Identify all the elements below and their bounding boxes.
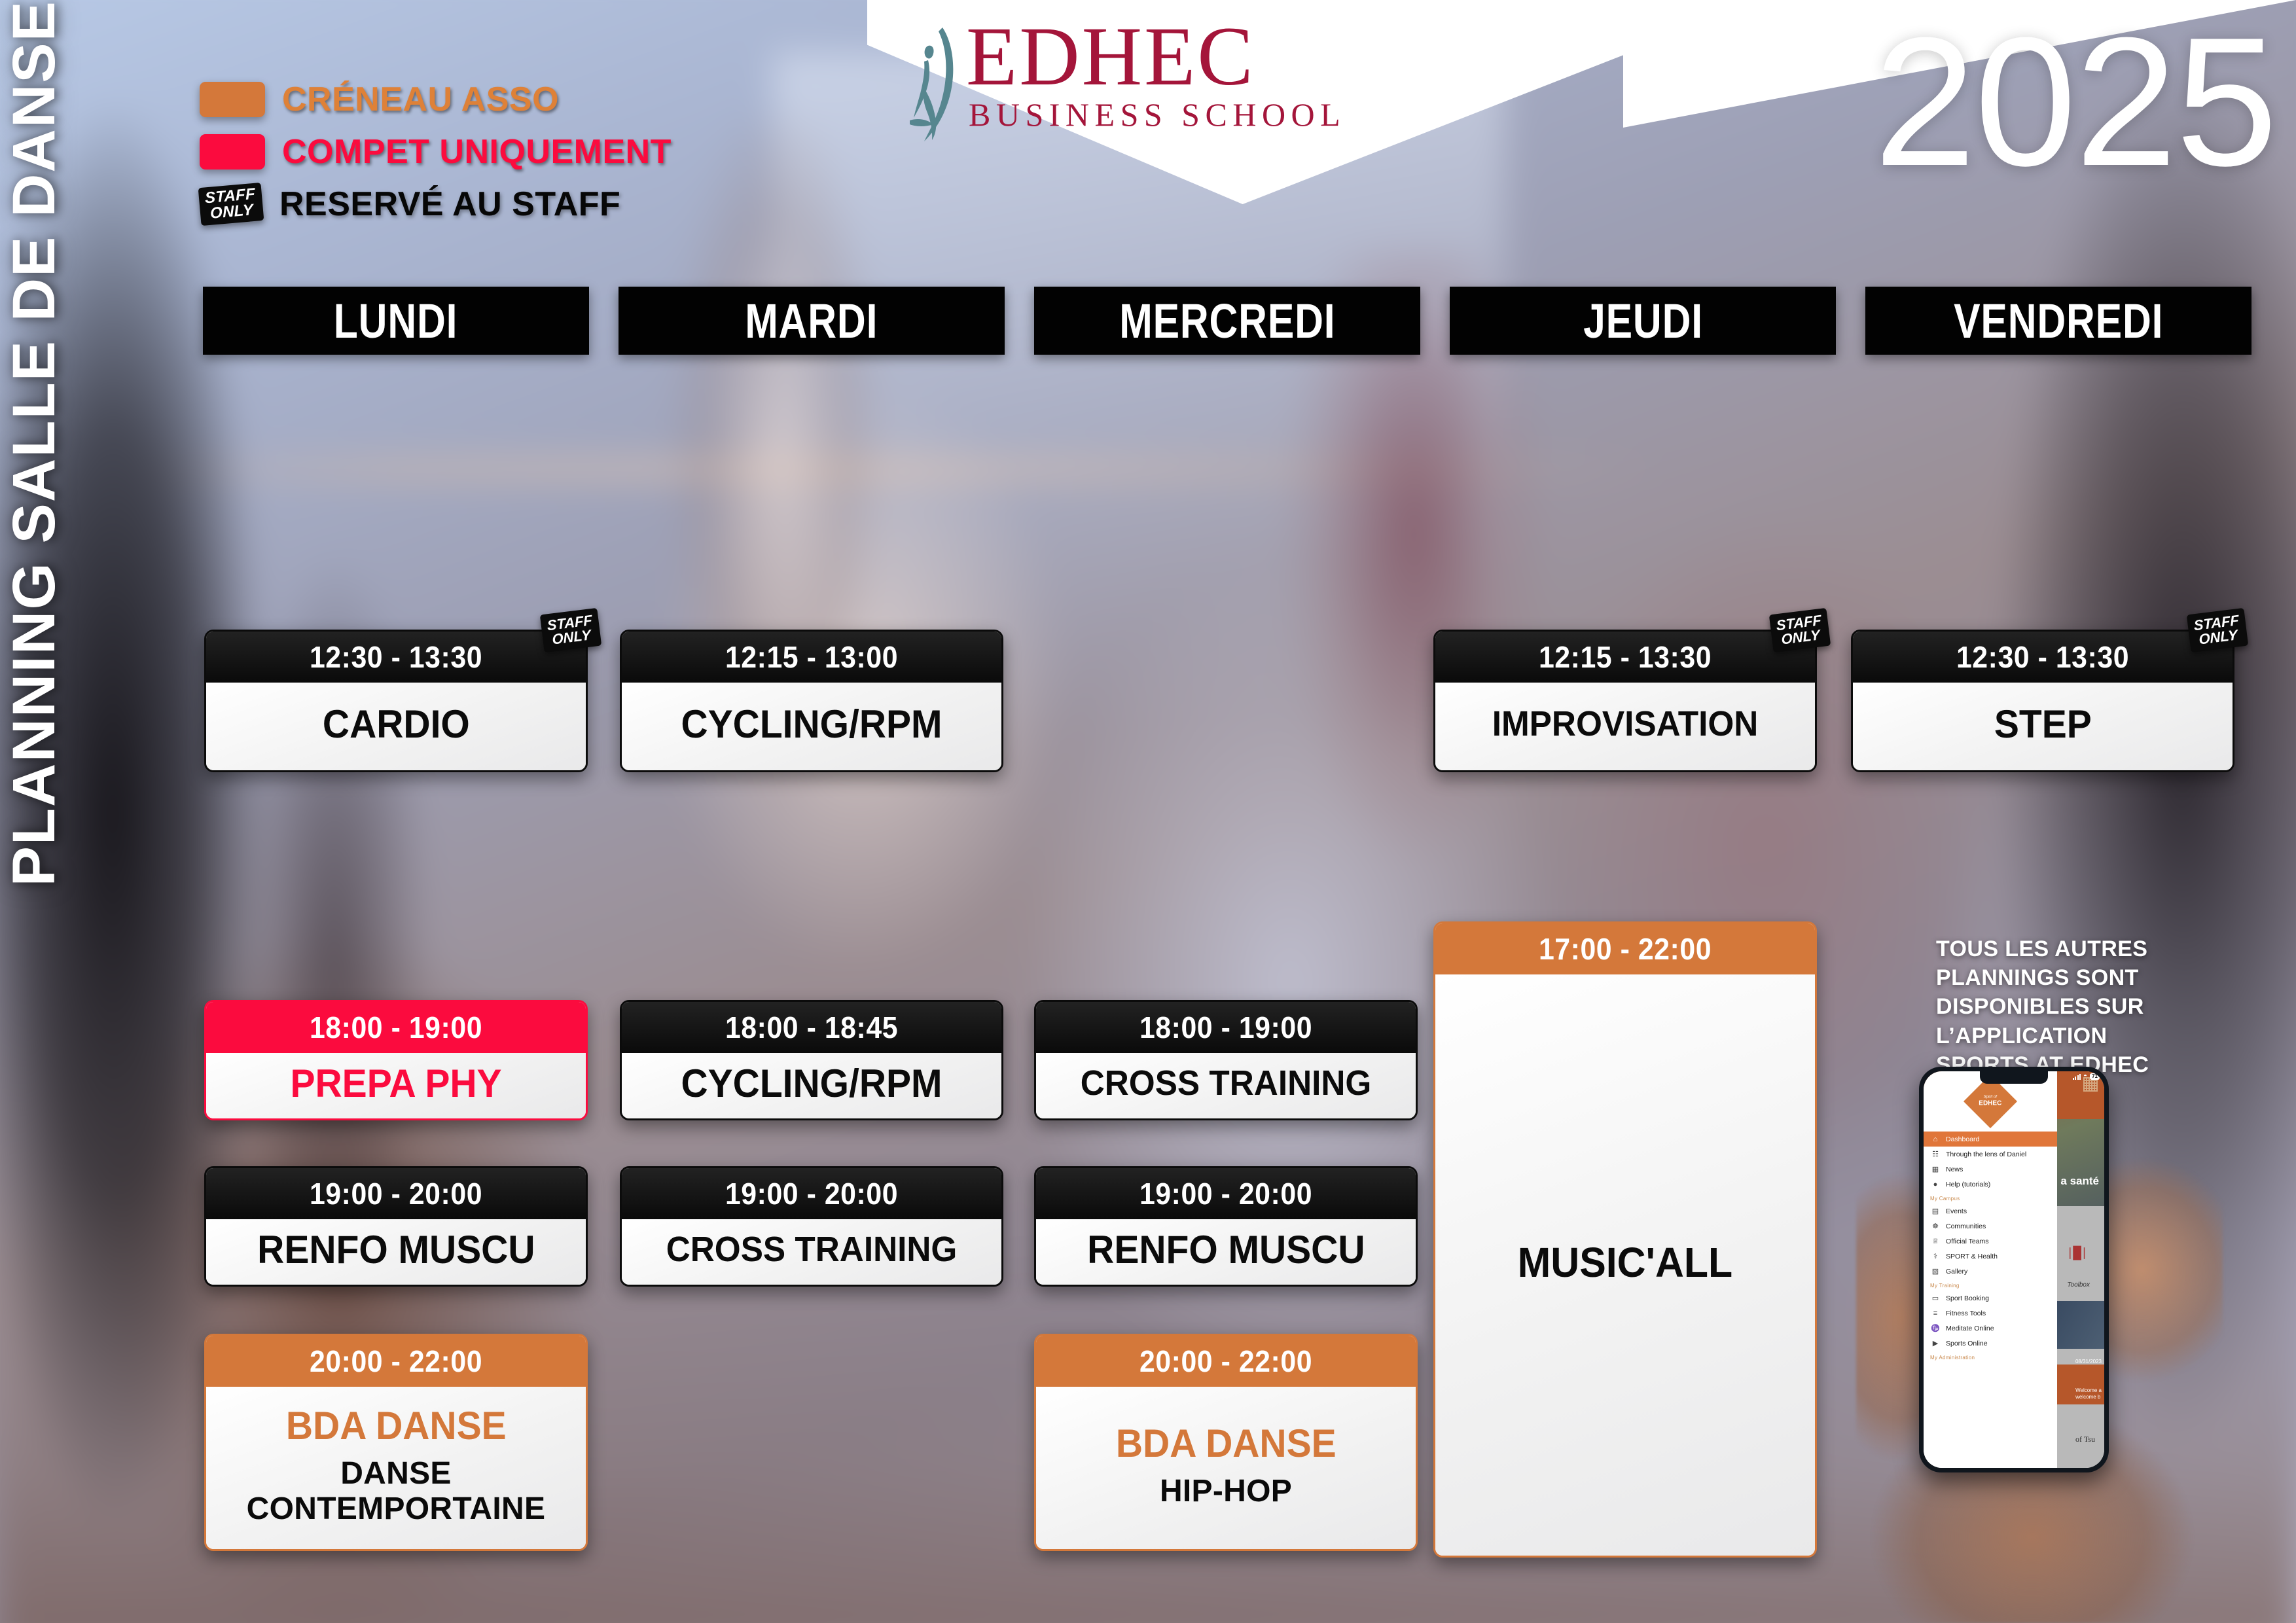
- class-card-wrapper: 17:00 - 22:00MUSIC'ALL: [1433, 921, 1817, 1558]
- class-card-wrapper: 12:30 - 13:30CARDIOSTAFFONLY: [204, 630, 588, 772]
- class-title: BDA DANSE: [286, 1406, 507, 1446]
- class-card-body: RENFO MUSCU: [206, 1219, 586, 1285]
- class-time-header: 20:00 - 22:00: [206, 1336, 586, 1387]
- class-title: CYCLING/RPM: [681, 704, 942, 744]
- class-title: RENFO MUSCU: [257, 1230, 535, 1270]
- menu-item-gallery[interactable]: ▧Gallery: [1924, 1264, 2057, 1279]
- class-card-wrapper: 18:00 - 19:00PREPA PHY: [204, 1000, 588, 1120]
- staff-badge-line2: ONLY: [552, 628, 592, 647]
- class-title: CARDIO: [323, 704, 470, 744]
- class-card[interactable]: 18:00 - 18:45CYCLING/RPM: [620, 1000, 1003, 1120]
- class-title: RENFO MUSCU: [1087, 1230, 1365, 1270]
- menu-item-events[interactable]: ▤Events: [1924, 1204, 2057, 1219]
- staff-only-badge-icon: STAFFONLY: [1769, 608, 1831, 652]
- menu-item-label: SPORT & Health: [1946, 1253, 1998, 1260]
- class-card-body: CYCLING/RPM: [622, 683, 1001, 770]
- class-title: MUSIC'ALL: [1518, 1241, 1733, 1284]
- menu-item-through-the-lens-of-daniel[interactable]: ☷Through the lens of Daniel: [1924, 1147, 2057, 1162]
- menu-item-label: News: [1946, 1166, 1963, 1173]
- class-card[interactable]: 12:30 - 13:30STEP: [1851, 630, 2234, 772]
- class-card-wrapper: 19:00 - 20:00RENFO MUSCU: [1034, 1166, 1418, 1287]
- class-time-header: 12:30 - 13:30: [1853, 632, 2233, 683]
- menu-item-news[interactable]: ▦News: [1924, 1162, 2057, 1177]
- phone-screen: ◓ 71 a santé ∣█∣ Toolbox 08/31/2023 Welc…: [1924, 1071, 2104, 1468]
- menu-item-label: Help (tutorials): [1946, 1181, 1990, 1188]
- class-card-body: CROSS TRAINING: [1036, 1053, 1416, 1118]
- class-time-header: 19:00 - 20:00: [206, 1168, 586, 1219]
- class-title: CROSS TRAINING: [1081, 1065, 1372, 1101]
- class-card[interactable]: 12:15 - 13:30IMPROVISATION: [1433, 630, 1817, 772]
- class-time-label: 12:30 - 13:30: [1956, 639, 2129, 675]
- class-time-label: 17:00 - 22:00: [1539, 931, 1712, 967]
- class-time-header: 12:15 - 13:00: [622, 632, 1001, 683]
- class-time-label: 18:00 - 19:00: [1139, 1010, 1312, 1045]
- class-time-label: 19:00 - 20:00: [310, 1176, 482, 1211]
- class-card[interactable]: 18:00 - 19:00PREPA PHY: [204, 1000, 588, 1120]
- class-time-header: 18:00 - 19:00: [1036, 1002, 1416, 1053]
- app-footer-text: of Tsu: [2075, 1435, 2095, 1444]
- trophy-icon: ♕: [1930, 1237, 1941, 1246]
- app-side-menu[interactable]: Spirit of EDHEC ⌂Dashboard☷Through the l…: [1924, 1071, 2057, 1468]
- class-card[interactable]: 19:00 - 20:00CROSS TRAINING: [620, 1166, 1003, 1287]
- class-card-body: BDA DANSEDANSE CONTEMPORTAINE: [206, 1387, 586, 1549]
- class-card-body: CROSS TRAINING: [622, 1219, 1001, 1285]
- class-title: CYCLING/RPM: [681, 1063, 942, 1103]
- calendar-icon: ▤: [1930, 1207, 1941, 1216]
- class-card-body: MUSIC'ALL: [1435, 974, 1815, 1556]
- class-time-label: 20:00 - 22:00: [1139, 1344, 1312, 1379]
- menu-item-label: Sports Online: [1946, 1340, 1988, 1347]
- photos-icon: ▧: [1930, 1267, 1941, 1276]
- class-subtitle: HIP-HOP: [1160, 1474, 1292, 1509]
- menu-item-label: Meditate Online: [1946, 1325, 1994, 1332]
- class-title: BDA DANSE: [1116, 1423, 1336, 1463]
- menu-section-my-administration: My Administration: [1924, 1351, 2057, 1363]
- class-card-body: CARDIO: [206, 683, 586, 770]
- class-card-body: BDA DANSEHIP-HOP: [1036, 1387, 1416, 1549]
- menu-item-official-teams[interactable]: ♕Official Teams: [1924, 1234, 2057, 1249]
- class-card-wrapper: 20:00 - 22:00BDA DANSEDANSE CONTEMPORTAI…: [204, 1334, 588, 1551]
- meditation-icon: ♑: [1930, 1324, 1941, 1333]
- dumbbell-icon: ∣█∣: [2067, 1246, 2087, 1260]
- class-card[interactable]: 19:00 - 20:00RENFO MUSCU: [1034, 1166, 1418, 1287]
- battery-level: 71: [2090, 1073, 2100, 1080]
- class-time-header: 20:00 - 22:00: [1036, 1336, 1416, 1387]
- menu-item-label: Dashboard: [1946, 1135, 1979, 1143]
- class-card-wrapper: 12:15 - 13:30IMPROVISATIONSTAFFONLY: [1433, 630, 1817, 772]
- class-time-label: 12:30 - 13:30: [310, 639, 482, 675]
- class-time-header: 12:30 - 13:30: [206, 632, 586, 683]
- home-icon: ⌂: [1930, 1135, 1941, 1144]
- class-subtitle: DANSE CONTEMPORTAINE: [247, 1456, 546, 1527]
- app-news-date: 08/31/2023: [2075, 1359, 2102, 1364]
- menu-item-help-tutorials[interactable]: ●Help (tutorials): [1924, 1177, 2057, 1192]
- app-health-headline: a santé: [2060, 1175, 2099, 1188]
- class-time-header: 19:00 - 20:00: [622, 1168, 1001, 1219]
- lightbulb-icon: ●: [1930, 1180, 1941, 1189]
- phone-notch: [1980, 1071, 2048, 1084]
- class-card-wrapper: 19:00 - 20:00RENFO MUSCU: [204, 1166, 588, 1287]
- class-time-label: 19:00 - 20:00: [725, 1176, 898, 1211]
- class-card[interactable]: 20:00 - 22:00BDA DANSEHIP-HOP: [1034, 1334, 1418, 1551]
- app-toolbox-label: Toolbox: [2067, 1281, 2090, 1289]
- staff-only-badge-icon: STAFFONLY: [540, 608, 601, 652]
- class-card-wrapper: 18:00 - 18:45CYCLING/RPM: [620, 1000, 1003, 1120]
- people-icon: ☸: [1930, 1222, 1941, 1231]
- class-card-wrapper: 20:00 - 22:00BDA DANSEHIP-HOP: [1034, 1334, 1418, 1551]
- menu-item-dashboard[interactable]: ⌂Dashboard: [1924, 1132, 2057, 1147]
- class-card[interactable]: 20:00 - 22:00BDA DANSEDANSE CONTEMPORTAI…: [204, 1334, 588, 1551]
- staff-only-badge-icon: STAFFONLY: [2187, 608, 2248, 652]
- class-card[interactable]: 12:30 - 13:30CARDIO: [204, 630, 588, 772]
- class-card-wrapper: 18:00 - 19:00CROSS TRAINING: [1034, 1000, 1418, 1120]
- video-icon: ▶: [1930, 1339, 1941, 1348]
- class-card[interactable]: 12:15 - 13:00CYCLING/RPM: [620, 630, 1003, 772]
- menu-item-label: Events: [1946, 1207, 1967, 1215]
- app-logo-name: EDHEC: [1979, 1100, 2002, 1107]
- class-card[interactable]: 18:00 - 19:00CROSS TRAINING: [1034, 1000, 1418, 1120]
- class-time-label: 12:15 - 13:00: [725, 639, 898, 675]
- menu-item-meditate-online[interactable]: ♑Meditate Online: [1924, 1321, 2057, 1336]
- ticket-icon: ▭: [1930, 1294, 1941, 1303]
- menu-item-label: Communities: [1946, 1222, 1986, 1230]
- class-time-header: 19:00 - 20:00: [1036, 1168, 1416, 1219]
- class-card[interactable]: 19:00 - 20:00RENFO MUSCU: [204, 1166, 588, 1287]
- dumbbell-icon: ≡: [1930, 1309, 1941, 1318]
- menu-item-fitness-tools[interactable]: ≡Fitness Tools: [1924, 1306, 2057, 1321]
- signal-icon: [2073, 1074, 2081, 1080]
- class-time-label: 19:00 - 20:00: [1139, 1176, 1312, 1211]
- class-time-header: 18:00 - 18:45: [622, 1002, 1001, 1053]
- class-card-body: IMPROVISATION: [1435, 683, 1815, 770]
- staff-badge-line2: ONLY: [1781, 628, 1821, 647]
- class-title: IMPROVISATION: [1492, 706, 1759, 742]
- staff-badge-line2: ONLY: [2198, 628, 2238, 647]
- menu-item-label: Fitness Tools: [1946, 1310, 1986, 1317]
- phone-mockup: ◓ 71 a santé ∣█∣ Toolbox 08/31/2023 Welc…: [1856, 1067, 2223, 1623]
- menu-item-communities[interactable]: ☸Communities: [1924, 1219, 2057, 1234]
- menu-item-label: Sport Booking: [1946, 1294, 1989, 1302]
- menu-item-label: Gallery: [1946, 1268, 1967, 1275]
- class-card-body: RENFO MUSCU: [1036, 1219, 1416, 1285]
- class-time-header: 18:00 - 19:00: [206, 1002, 586, 1053]
- app-promo: TOUS LES AUTRES PLANNINGS SONT DISPONIBL…: [1936, 935, 2198, 1079]
- menu-item-label: Official Teams: [1946, 1238, 1989, 1245]
- class-card[interactable]: 17:00 - 22:00MUSIC'ALL: [1433, 921, 1817, 1558]
- app-news-text: Welcome a welcome b: [2075, 1387, 2102, 1400]
- class-title: STEP: [1994, 704, 2092, 744]
- class-card-body: PREPA PHY: [206, 1053, 586, 1118]
- class-time-label: 12:15 - 13:30: [1539, 639, 1712, 675]
- class-card-wrapper: 12:15 - 13:00CYCLING/RPM: [620, 630, 1003, 772]
- class-title: PREPA PHY: [290, 1063, 501, 1103]
- phone-device: ◓ 71 a santé ∣█∣ Toolbox 08/31/2023 Welc…: [1919, 1067, 2109, 1472]
- newspaper-icon: ▦: [1930, 1165, 1941, 1174]
- class-card-body: CYCLING/RPM: [622, 1053, 1001, 1118]
- menu-section-my-training: My Training: [1924, 1279, 2057, 1291]
- class-card-wrapper: 12:30 - 13:30STEPSTAFFONLY: [1851, 630, 2234, 772]
- stethoscope-icon: ⚕: [1930, 1252, 1941, 1261]
- menu-section-my-campus: My Campus: [1924, 1192, 2057, 1204]
- class-time-header: 17:00 - 22:00: [1435, 923, 1815, 974]
- menu-item-sports-online[interactable]: ▶Sports Online: [1924, 1336, 2057, 1351]
- class-time-label: 18:00 - 18:45: [725, 1010, 898, 1045]
- phone-status-bar: ◓ 71: [2073, 1073, 2100, 1080]
- app-promo-text: TOUS LES AUTRES PLANNINGS SONT DISPONIBL…: [1936, 935, 2198, 1079]
- wifi-icon: ◓: [2083, 1073, 2087, 1080]
- class-title: CROSS TRAINING: [666, 1232, 958, 1268]
- menu-item-sport-health[interactable]: ⚕SPORT & Health: [1924, 1249, 2057, 1264]
- class-card-wrapper: 19:00 - 20:00CROSS TRAINING: [620, 1166, 1003, 1287]
- class-card-body: STEP: [1853, 683, 2233, 770]
- class-time-label: 18:00 - 19:00: [310, 1010, 482, 1045]
- menu-item-label: Through the lens of Daniel: [1946, 1150, 2026, 1158]
- menu-item-sport-booking[interactable]: ▭Sport Booking: [1924, 1291, 2057, 1306]
- class-time-label: 20:00 - 22:00: [310, 1344, 482, 1379]
- class-time-header: 12:15 - 13:30: [1435, 632, 1815, 683]
- camera-icon: ☷: [1930, 1150, 1941, 1159]
